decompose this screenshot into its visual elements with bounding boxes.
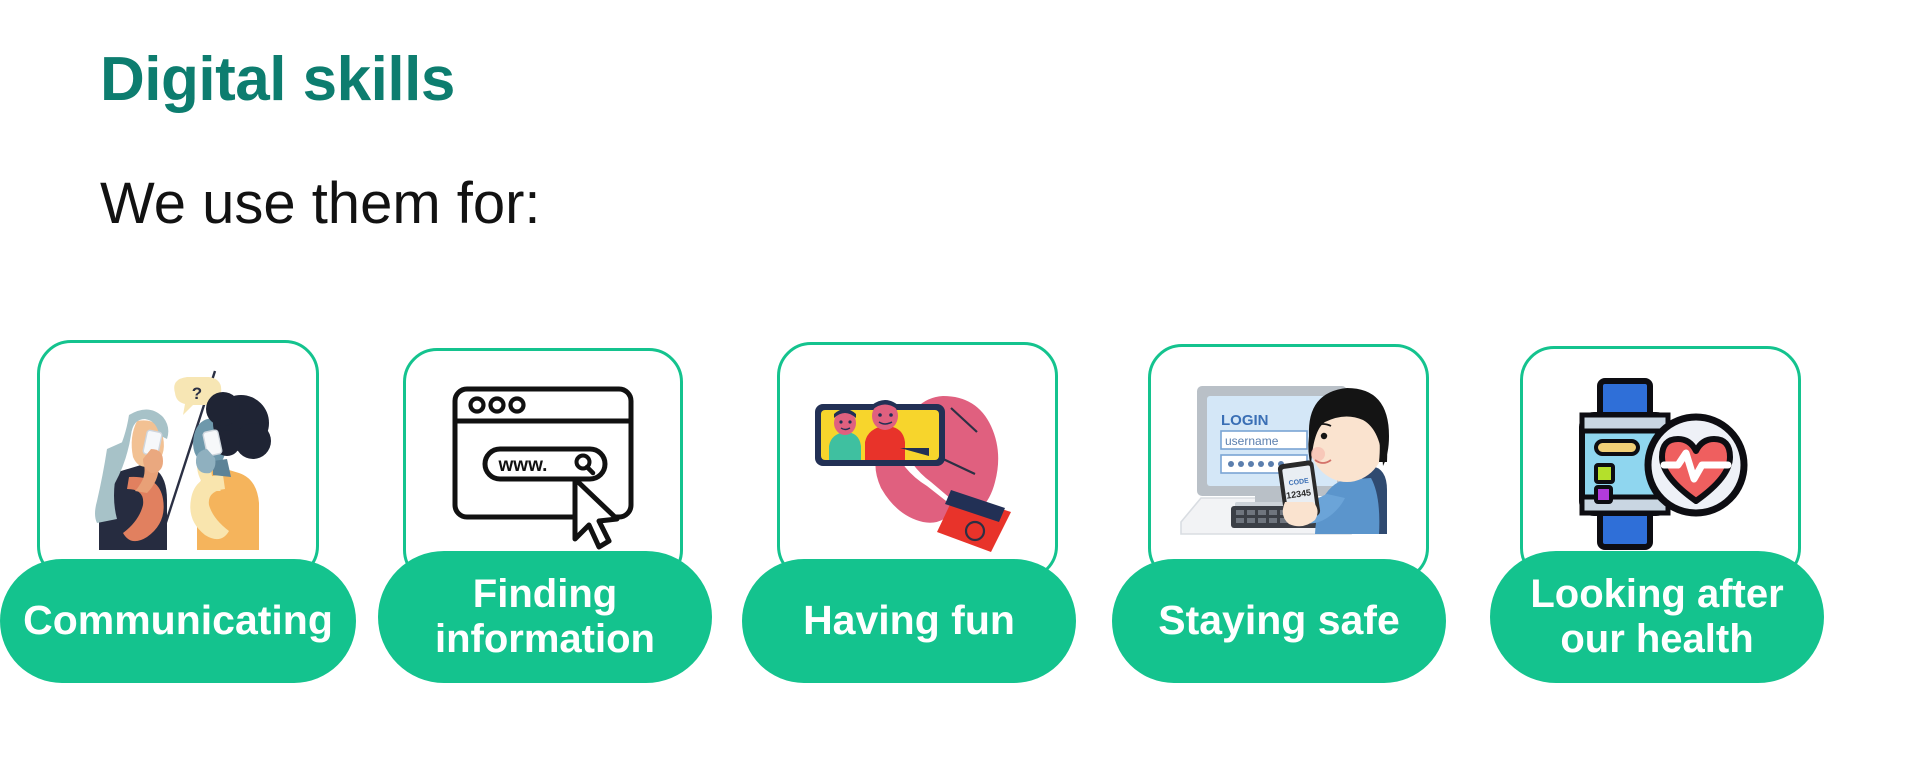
- pill-label: Communicating: [23, 598, 333, 644]
- username-label: username: [1225, 434, 1279, 448]
- pill-label-line2: our health: [1560, 617, 1753, 662]
- login-label: LOGIN: [1221, 412, 1269, 429]
- card-looking-after-our-health[interactable]: [1520, 346, 1801, 582]
- pill-label: Having fun: [803, 598, 1015, 644]
- card-communicating[interactable]: ?: [37, 340, 319, 580]
- card-having-fun[interactable]: [777, 342, 1058, 580]
- pill-having-fun[interactable]: Having fun: [742, 559, 1076, 683]
- card-staying-safe[interactable]: LOGIN username: [1148, 344, 1429, 582]
- pill-label: Staying safe: [1158, 598, 1400, 644]
- card-finding-information[interactable]: www.: [403, 348, 683, 584]
- pill-looking-after-our-health[interactable]: Looking after our health: [1490, 551, 1824, 683]
- pill-staying-safe[interactable]: Staying safe: [1112, 559, 1446, 683]
- pill-label-line2: information: [435, 617, 655, 662]
- pill-communicating[interactable]: Communicating: [0, 559, 356, 683]
- cards-row: ?: [0, 0, 1922, 765]
- pill-label-line1: Looking after: [1530, 572, 1783, 617]
- pill-finding-information[interactable]: Finding information: [378, 551, 712, 683]
- login-two-factor-icon: LOGIN username: [1151, 347, 1426, 579]
- hand-holding-phone-video-icon: [780, 345, 1055, 577]
- www-label: www.: [498, 455, 548, 476]
- smartwatch-heart-rate-icon: [1523, 349, 1798, 579]
- two-people-on-phones-icon: ?: [40, 343, 316, 577]
- question-mark-label: ?: [192, 384, 202, 403]
- pill-label-line1: Finding: [473, 572, 617, 617]
- browser-window-search-icon: www.: [406, 351, 680, 581]
